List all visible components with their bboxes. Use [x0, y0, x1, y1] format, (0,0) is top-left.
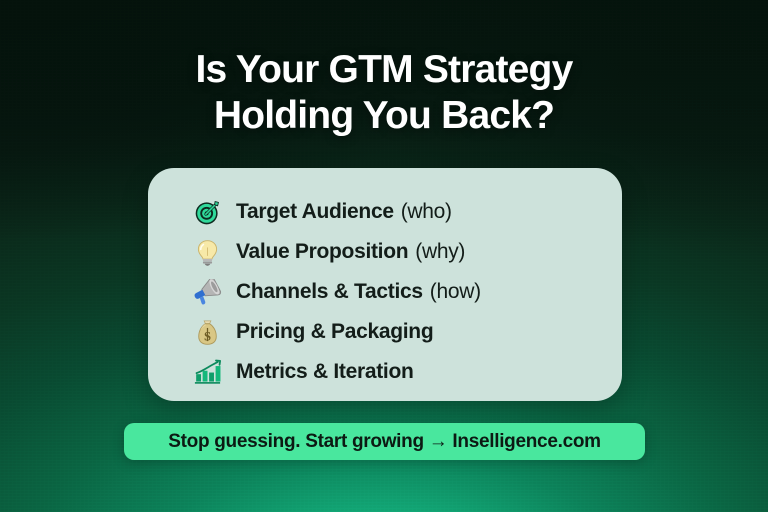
list-item: Metrics & Iteration [148, 352, 622, 392]
list-item-label: Target Audience [236, 200, 394, 224]
headline: Is Your GTM Strategy Holding You Back? [196, 47, 573, 139]
cta-label: Stop guessing. Start growing → Insellige… [168, 431, 600, 453]
money-bag-icon: S [192, 317, 222, 347]
list-item-label: Pricing & Packaging [236, 320, 433, 344]
list-item-label: Metrics & Iteration [236, 360, 414, 384]
poster-content: Is Your GTM Strategy Holding You Back? [0, 0, 768, 512]
bar-chart-icon [192, 357, 222, 387]
checklist-card: Target Audience (who) V [148, 168, 622, 401]
list-item-label: Value Proposition [236, 240, 408, 264]
list-item-suffix: (who) [401, 200, 452, 224]
promo-poster: Is Your GTM Strategy Holding You Back? [0, 0, 768, 512]
list-item: Value Proposition (why) [148, 232, 622, 272]
target-icon [192, 197, 222, 227]
headline-line-1: Is Your GTM Strategy [196, 47, 573, 93]
megaphone-icon [192, 277, 222, 307]
cta-banner[interactable]: Stop guessing. Start growing → Insellige… [124, 423, 645, 460]
list-item-suffix: (how) [430, 280, 481, 304]
list-item: S Pricing & Packaging [148, 312, 622, 352]
gtm-checklist: Target Audience (who) V [148, 192, 622, 392]
list-item: Target Audience (who) [148, 192, 622, 232]
list-item-suffix: (why) [415, 240, 465, 264]
headline-line-2: Holding You Back? [196, 93, 573, 139]
lightbulb-icon [192, 237, 222, 267]
list-item-label: Channels & Tactics [236, 280, 423, 304]
list-item: Channels & Tactics (how) [148, 272, 622, 312]
